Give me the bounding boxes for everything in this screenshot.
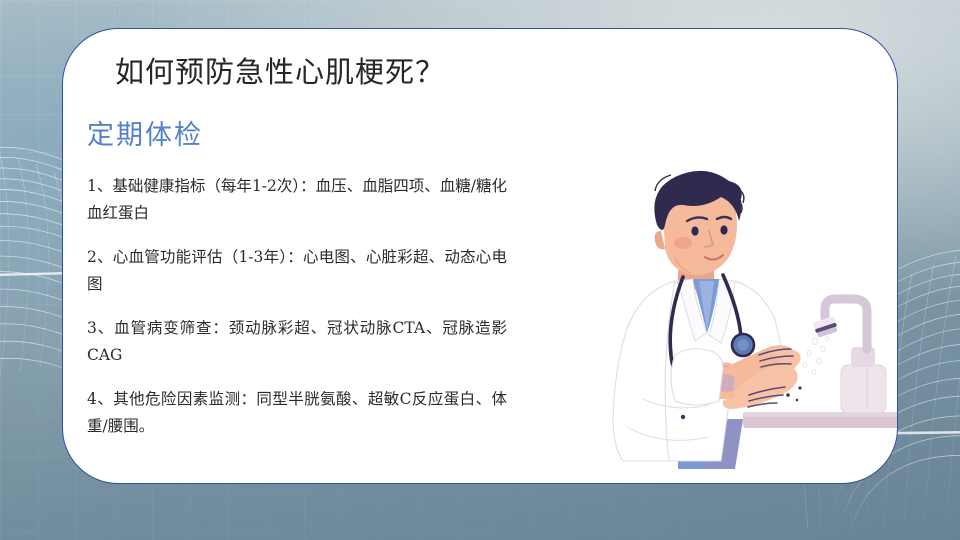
water-droplets — [803, 337, 829, 375]
content-card: 如何预防急性心肌梗死？ 定期体检 1、基础健康指标（每年1-2次）：血压、血脂四… — [62, 28, 898, 484]
faucet — [813, 299, 867, 349]
body-item: 4、其他危险因素监测：同型半胱氨酸、超敏C反应蛋白、体重/腰围。 — [87, 386, 507, 440]
slide-canvas: 如何预防急性心肌梗死？ 定期体检 1、基础健康指标（每年1-2次）：血压、血脂四… — [0, 0, 960, 540]
body-text-list: 1、基础健康指标（每年1-2次）：血压、血脂四项、血糖/糖化血红蛋白 2、心血管… — [87, 173, 507, 457]
page-title: 如何预防急性心肌梗死？ — [115, 49, 445, 91]
doctor-washing-hands-illustration — [583, 169, 898, 469]
body-item: 1、基础健康指标（每年1-2次）：血压、血脂四项、血糖/糖化血红蛋白 — [87, 173, 507, 227]
body-item: 3、血管病变筛查：颈动脉彩超、冠状动脉CTA、冠脉造影CAG — [87, 315, 507, 369]
body-item: 2、心血管功能评估（1-3年）：心电图、心脏彩超、动态心电图 — [87, 244, 507, 298]
soap-bottle — [841, 347, 886, 413]
doctor-head — [654, 171, 744, 275]
section-subtitle: 定期体检 — [87, 113, 203, 152]
coat-sleeve — [671, 349, 723, 405]
